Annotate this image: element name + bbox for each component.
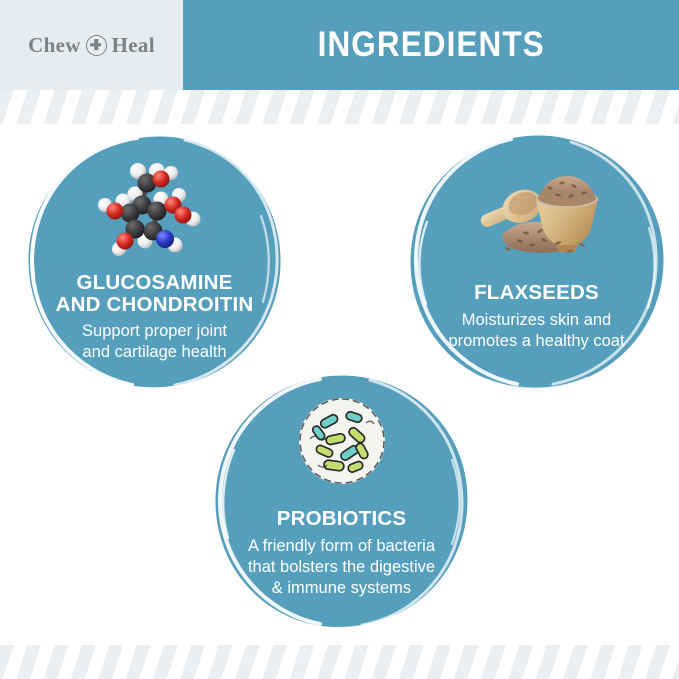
diagonal-stripe-band-bottom	[0, 645, 679, 679]
ingredient-heading: GLUCOSAMINE AND CHONDROITIN	[56, 272, 254, 316]
probiotic-bacteria-icon	[296, 395, 388, 492]
ingredient-heading: FLAXSEEDS	[474, 282, 599, 304]
header: Chew Heal INGREDIENTS	[0, 0, 679, 90]
plus-in-circle-icon	[86, 35, 107, 56]
logo-word-chew: Chew	[28, 35, 81, 56]
description-line-2: that bolsters the digestive	[248, 558, 435, 576]
ingredient-card-probiotics: PROBIOTICS A friendly form of bacteria t…	[213, 373, 470, 630]
ingredient-description: Support proper joint and cartilage healt…	[82, 321, 227, 363]
description-line-3: & immune systems	[272, 579, 411, 597]
title-panel: INGREDIENTS	[183, 0, 679, 90]
glucosamine-molecule-icon	[95, 153, 215, 262]
description-line-1: Support proper joint	[82, 322, 227, 340]
ingredient-description: Moisturizes skin and promotes a healthy …	[448, 310, 624, 352]
description-line-1: A friendly form of bacteria	[248, 537, 435, 555]
logo-word-heal: Heal	[112, 35, 155, 56]
description-line-2: promotes a healthy coat	[448, 332, 624, 350]
diagonal-stripe-band-top	[0, 90, 679, 124]
ingredient-card-flaxseeds: FLAXSEEDS Moisturizes skin and promotes …	[408, 133, 665, 390]
ingredient-heading: PROBIOTICS	[277, 508, 407, 530]
description-line-1: Moisturizes skin and	[462, 311, 611, 329]
page-title: INGREDIENTS	[317, 25, 544, 65]
description-line-2: and cartilage health	[82, 343, 226, 361]
brand-logo-panel: Chew Heal	[0, 0, 183, 90]
brand-logo: Chew Heal	[28, 35, 155, 56]
ingredient-description: A friendly form of bacteria that bolster…	[248, 536, 435, 599]
ingredient-card-glucosamine: GLUCOSAMINE AND CHONDROITIN Support prop…	[26, 133, 283, 390]
infographic-page: Chew Heal INGREDIENTS	[0, 0, 679, 679]
heading-line-1: GLUCOSAMINE	[77, 271, 233, 294]
flaxseed-bowl-icon	[474, 155, 600, 264]
heading-line-2: AND CHONDROITIN	[56, 293, 254, 316]
